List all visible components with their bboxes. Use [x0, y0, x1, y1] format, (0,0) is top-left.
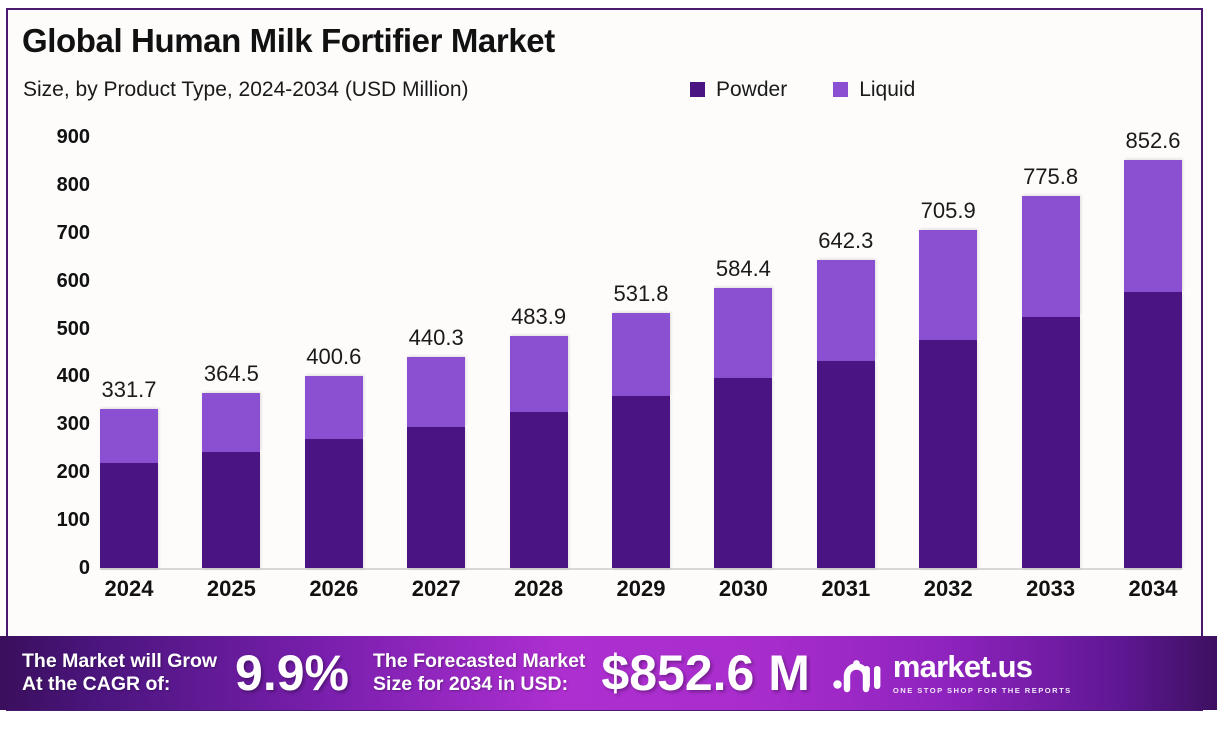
market-us-logo-text: market.us ONE STOP SHOP FOR THE REPORTS — [893, 651, 1072, 695]
legend-label: Liquid — [859, 79, 915, 100]
y-axis-tick-label: 700 — [22, 223, 90, 243]
y-axis-tick-label: 100 — [22, 510, 90, 530]
bar-group[interactable]: 642.3 — [817, 260, 875, 568]
y-axis-tick-label: 500 — [22, 319, 90, 339]
legend-item-liquid: Liquid — [833, 79, 915, 100]
bar-value-label: 584.4 — [716, 258, 771, 280]
bar-value-label: 531.8 — [613, 283, 668, 305]
x-axis-tick-label: 2034 — [1113, 578, 1193, 600]
page-title: Global Human Milk Fortifier Market — [22, 22, 555, 60]
y-axis-tick-label: 300 — [22, 414, 90, 434]
x-axis-tick-label: 2031 — [806, 578, 886, 600]
bar-segment-powder[interactable] — [714, 378, 772, 568]
bars-container: 331.7364.5400.6440.3483.9531.8584.4642.3… — [100, 125, 1182, 570]
legend-swatch-icon — [833, 82, 848, 97]
bar-group[interactable]: 705.9 — [919, 230, 977, 568]
cagr-block: The Market will Grow At the CAGR of: 9.9… — [22, 648, 349, 698]
bar-segment-powder[interactable] — [1022, 317, 1080, 568]
y-axis: 0100200300400500600700800900 — [22, 125, 90, 570]
bar-segment-powder[interactable] — [407, 427, 465, 568]
bar-segment-liquid[interactable] — [1124, 160, 1182, 292]
forecast-caption: The Forecasted Market Size for 2034 in U… — [373, 650, 585, 696]
bar-value-label: 364.5 — [204, 363, 259, 385]
bar-segment-powder[interactable] — [817, 361, 875, 568]
bar-segment-liquid[interactable] — [1022, 196, 1080, 317]
bar-value-label: 331.7 — [101, 379, 156, 401]
bar-value-label: 705.9 — [921, 200, 976, 222]
bar-segment-liquid[interactable] — [817, 260, 875, 360]
bar-segment-liquid[interactable] — [305, 376, 363, 439]
plot-area: 0100200300400500600700800900 331.7364.54… — [22, 125, 1182, 570]
x-axis-tick-label: 2025 — [191, 578, 271, 600]
summary-banner: The Market will Grow At the CAGR of: 9.9… — [0, 636, 1217, 710]
bar-group[interactable]: 483.9 — [510, 336, 568, 568]
bar-group[interactable]: 775.8 — [1022, 196, 1080, 568]
market-us-logo-icon — [832, 653, 884, 693]
bar-value-label: 400.6 — [306, 346, 361, 368]
bar-segment-powder[interactable] — [919, 340, 977, 568]
cagr-caption: The Market will Grow At the CAGR of: — [22, 650, 217, 696]
bar-group[interactable]: 440.3 — [407, 357, 465, 568]
bar-group[interactable]: 852.6 — [1124, 160, 1182, 568]
bar-segment-powder[interactable] — [100, 463, 158, 568]
bar-value-label: 852.6 — [1125, 130, 1180, 152]
x-axis-tick-label: 2029 — [601, 578, 681, 600]
x-axis-tick-label: 2026 — [294, 578, 374, 600]
legend-label: Powder — [716, 79, 787, 100]
cagr-value: 9.9% — [235, 648, 349, 698]
forecast-block: The Forecasted Market Size for 2034 in U… — [373, 648, 810, 698]
bar-group[interactable]: 400.6 — [305, 376, 363, 568]
cagr-caption-line1: The Market will Grow — [22, 650, 217, 672]
bar-group[interactable]: 364.5 — [202, 393, 260, 568]
bar-segment-liquid[interactable] — [714, 288, 772, 378]
bar-segment-liquid[interactable] — [407, 357, 465, 427]
bar-group[interactable]: 531.8 — [612, 313, 670, 568]
y-axis-tick-label: 400 — [22, 366, 90, 386]
bar-segment-liquid[interactable] — [100, 409, 158, 462]
infographic-root: Global Human Milk Fortifier Market Size,… — [0, 0, 1217, 737]
x-axis-tick-label: 2028 — [499, 578, 579, 600]
bar-segment-liquid[interactable] — [612, 313, 670, 395]
bar-group[interactable]: 584.4 — [714, 288, 772, 568]
bar-value-label: 440.3 — [409, 327, 464, 349]
chart-legend: PowderLiquid — [690, 79, 915, 100]
x-axis-tick-label: 2024 — [89, 578, 169, 600]
bar-value-label: 483.9 — [511, 306, 566, 328]
bar-segment-liquid[interactable] — [202, 393, 260, 451]
y-axis-tick-label: 200 — [22, 462, 90, 482]
legend-swatch-icon — [690, 82, 705, 97]
y-axis-tick-label: 600 — [22, 271, 90, 291]
x-axis-line — [100, 568, 1182, 570]
bar-value-label: 775.8 — [1023, 166, 1078, 188]
bar-group[interactable]: 331.7 — [100, 409, 158, 568]
y-axis-tick-label: 800 — [22, 175, 90, 195]
forecast-caption-line2: Size for 2034 in USD: — [373, 673, 568, 695]
x-axis-tick-label: 2030 — [703, 578, 783, 600]
forecast-caption-line1: The Forecasted Market — [373, 650, 585, 672]
bar-value-label: 642.3 — [818, 230, 873, 252]
x-axis-tick-label: 2027 — [396, 578, 476, 600]
bar-segment-powder[interactable] — [305, 439, 363, 568]
x-axis-tick-label: 2033 — [1011, 578, 1091, 600]
bar-segment-liquid[interactable] — [919, 230, 977, 340]
y-axis-tick-label: 0 — [22, 558, 90, 578]
forecast-value: $852.6 M — [601, 648, 809, 698]
market-us-logo[interactable]: market.us ONE STOP SHOP FOR THE REPORTS — [832, 651, 1072, 695]
x-axis: 2024202520262027202820292030203120322033… — [100, 578, 1182, 608]
bar-segment-powder[interactable] — [202, 452, 260, 568]
y-axis-tick-label: 900 — [22, 127, 90, 147]
logo-tagline: ONE STOP SHOP FOR THE REPORTS — [893, 686, 1072, 695]
x-axis-tick-label: 2032 — [908, 578, 988, 600]
legend-item-powder: Powder — [690, 79, 787, 100]
cagr-caption-line2: At the CAGR of: — [22, 673, 170, 695]
bar-segment-liquid[interactable] — [510, 336, 568, 412]
logo-wordmark: market.us — [893, 651, 1072, 682]
bar-segment-powder[interactable] — [612, 396, 670, 568]
bar-segment-powder[interactable] — [1124, 292, 1182, 568]
bar-segment-powder[interactable] — [510, 412, 568, 568]
chart-subtitle: Size, by Product Type, 2024-2034 (USD Mi… — [23, 78, 469, 102]
